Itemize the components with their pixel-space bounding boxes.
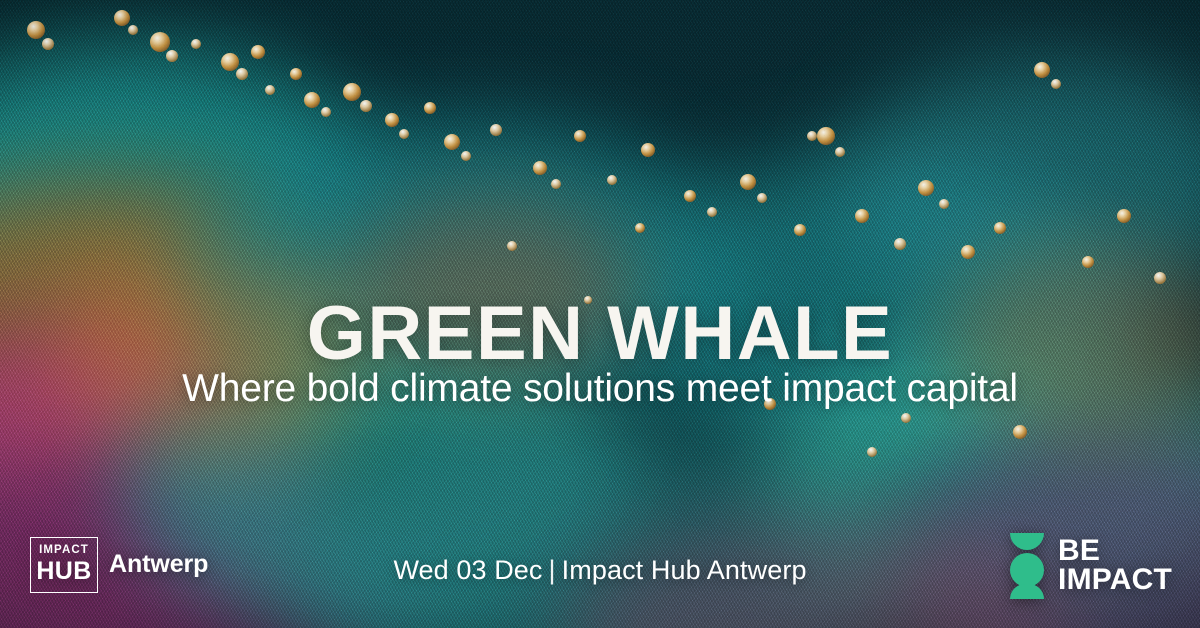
impact-hub-antwerp-logo[interactable]: IMPACT HUB Antwerp bbox=[30, 537, 208, 593]
logomark-top-dome bbox=[1010, 533, 1044, 550]
impact-hub-logomark: IMPACT HUB bbox=[30, 537, 98, 593]
event-subtitle: Where bold climate solutions meet impact… bbox=[0, 369, 1200, 408]
be-impact-line-1: BE bbox=[1058, 536, 1172, 565]
be-impact-wordmark: BE IMPACT bbox=[1058, 536, 1172, 595]
be-impact-logomark-icon bbox=[1010, 533, 1044, 597]
be-impact-logo[interactable]: BE IMPACT bbox=[1010, 533, 1172, 597]
logomark-bottom-dome bbox=[1010, 584, 1044, 599]
be-impact-line-2: IMPACT bbox=[1058, 565, 1172, 594]
impact-hub-impact-word: IMPACT bbox=[39, 545, 89, 557]
event-banner: GREEN WHALE Where bold climate solutions… bbox=[0, 0, 1200, 628]
logomark-center-circle bbox=[1010, 553, 1044, 587]
event-venue: Impact Hub Antwerp bbox=[562, 555, 807, 585]
event-date: Wed 03 Dec bbox=[393, 555, 542, 585]
impact-hub-hub-word: HUB bbox=[36, 559, 91, 584]
banner-content: GREEN WHALE Where bold climate solutions… bbox=[0, 0, 1200, 628]
event-title: GREEN WHALE bbox=[0, 296, 1200, 372]
impact-hub-city-label: Antwerp bbox=[109, 552, 208, 579]
meta-separator: | bbox=[543, 555, 562, 585]
